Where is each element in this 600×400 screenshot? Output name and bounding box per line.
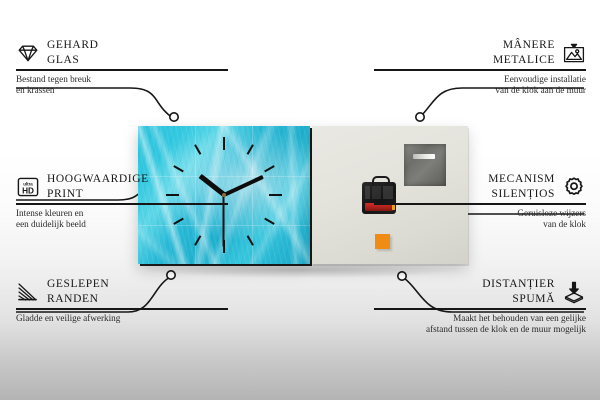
- callout-spacer-head: DISTANȚIER SPUMĂ: [294, 277, 586, 306]
- callout-mechanism-head: MECANISM SILENȚIOS: [294, 172, 586, 201]
- callout-print-head: ultra HD HOOGWAARDIGE PRINT: [16, 172, 308, 201]
- callout-handles-desc: Eenvoudige installatie van de klok aan d…: [294, 74, 586, 97]
- foam-spacer: [375, 234, 390, 249]
- picture-hanger-icon: [562, 41, 586, 65]
- callout-glass: GEHARD GLAS Bestand tegen breuk en krass…: [16, 38, 308, 97]
- callout-glass-title: GEHARD GLAS: [47, 38, 99, 67]
- node-glass: [170, 113, 178, 121]
- callout-handles-head: MÂNERE METALICE: [294, 38, 586, 67]
- svg-text:HD: HD: [22, 186, 34, 195]
- callout-glass-rule: [16, 69, 228, 71]
- callout-glass-desc: Bestand tegen breuk en krassen: [16, 74, 308, 97]
- infographic-canvas: GEHARD GLAS Bestand tegen breuk en krass…: [0, 0, 600, 400]
- gear-icon: [562, 175, 586, 199]
- callout-print-desc: Intense kleuren en een duidelijk beeld: [16, 208, 308, 231]
- hanger-slot: [413, 154, 435, 159]
- callout-handles-title: MÂNERE METALICE: [493, 38, 555, 67]
- callout-print-title: HOOGWAARDIGE PRINT: [47, 172, 149, 201]
- ultra-hd-icon: ultra HD: [16, 175, 40, 199]
- spacer-arrow-icon: [562, 280, 586, 304]
- callout-glass-head: GEHARD GLAS: [16, 38, 308, 67]
- callout-mechanism: MECANISM SILENȚIOS Geruisloze wijzers va…: [294, 172, 586, 231]
- diamond-icon: [16, 41, 40, 65]
- callout-print-rule: [16, 203, 228, 205]
- callout-edges-rule: [16, 308, 228, 310]
- callout-handles-rule: [374, 69, 586, 71]
- callout-edges-head: GESLEPEN RANDEN: [16, 277, 308, 306]
- callout-spacer-rule: [374, 308, 586, 310]
- callout-print: ultra HD HOOGWAARDIGE PRINT Intense kleu…: [16, 172, 308, 231]
- callout-edges-title: GESLEPEN RANDEN: [47, 277, 109, 306]
- callout-edges-desc: Gladde en veilige afwerking: [16, 313, 308, 325]
- callout-spacer-title: DISTANȚIER SPUMĂ: [482, 277, 555, 306]
- callout-mechanism-title: MECANISM SILENȚIOS: [488, 172, 555, 201]
- node-handles: [416, 113, 424, 121]
- callout-spacer-desc: Maakt het behouden van een gelijke afsta…: [294, 313, 586, 336]
- callout-mechanism-desc: Geruisloze wijzers van de klok: [294, 208, 586, 231]
- beveled-edges-icon: [16, 280, 40, 304]
- callout-spacer: DISTANȚIER SPUMĂ Maakt het behouden van …: [294, 277, 586, 336]
- callout-handles: MÂNERE METALICE Eenvoudige installatie v…: [294, 38, 586, 97]
- callout-edges: GESLEPEN RANDEN Gladde en veilige afwerk…: [16, 277, 308, 324]
- product-shadow: [146, 262, 464, 278]
- callout-mechanism-rule: [374, 203, 586, 205]
